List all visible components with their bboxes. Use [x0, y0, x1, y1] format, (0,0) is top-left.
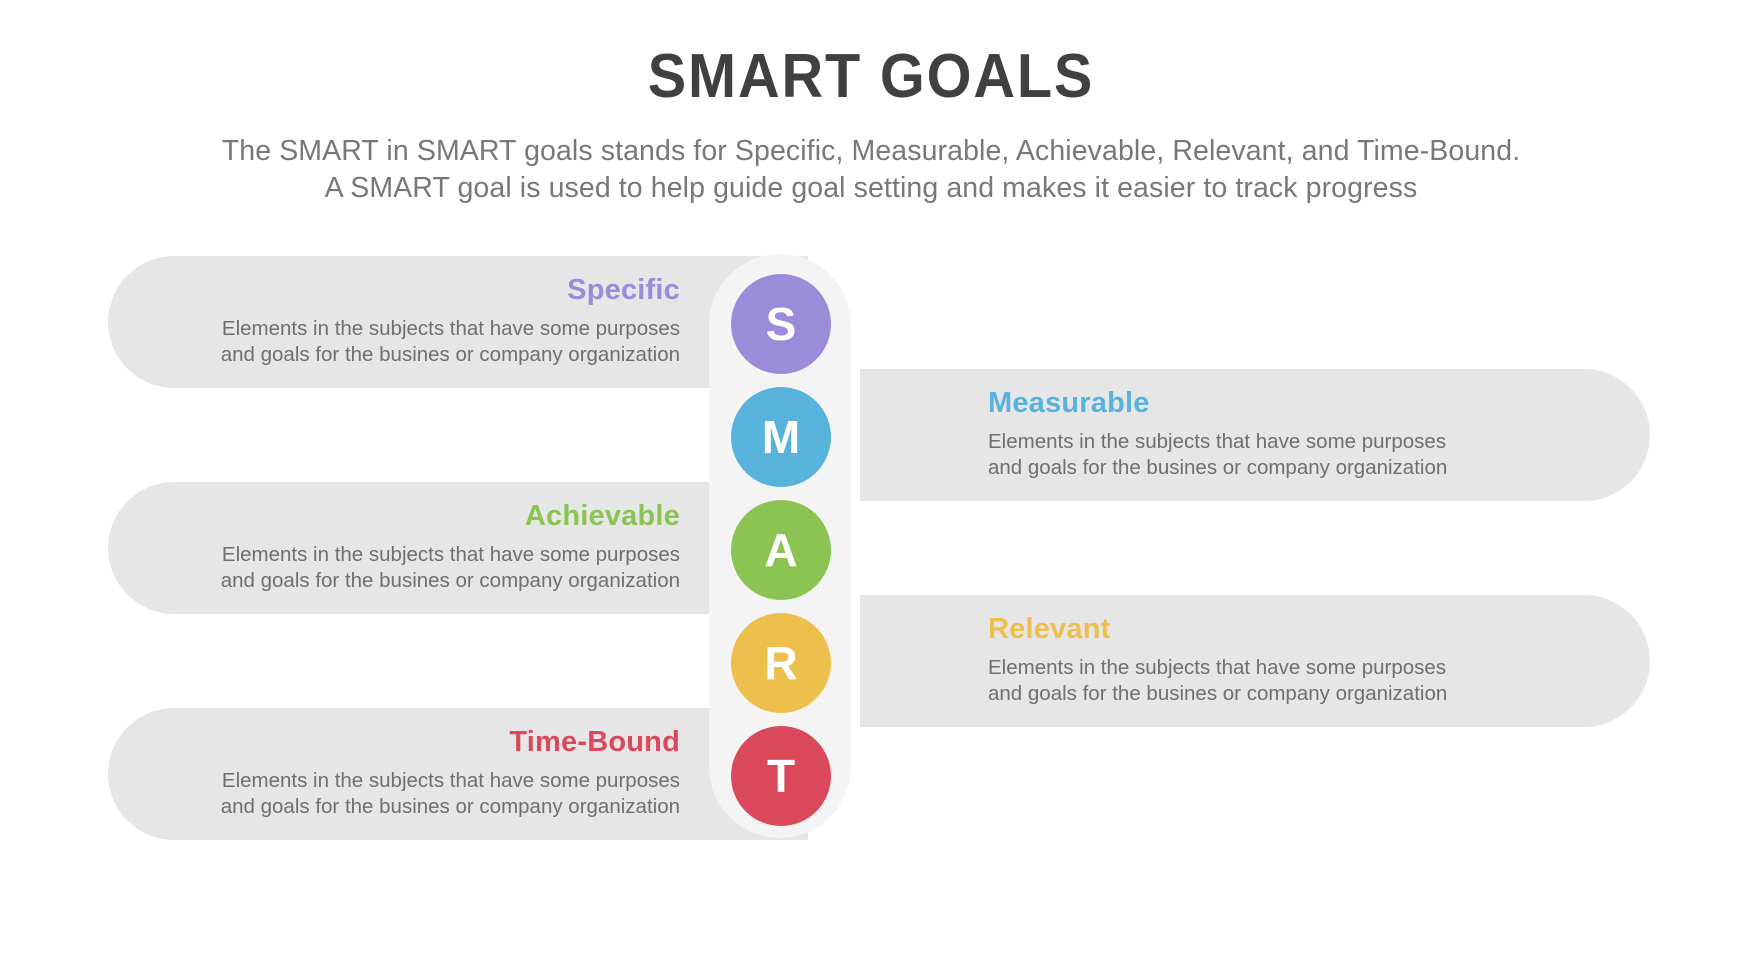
smart-bar-description-measurable: Elements in the subjects that have some … — [988, 429, 1590, 482]
smart-bar-relevant[interactable]: Relevant Elements in the subjects that h… — [860, 595, 1650, 727]
header: SMART GOALS The SMART in SMART goals sta… — [0, 44, 1742, 206]
page-title: SMART GOALS — [61, 44, 1681, 109]
smart-bar-measurable[interactable]: Measurable Elements in the subjects that… — [860, 369, 1650, 501]
subtitle-line-2: A SMART goal is used to help guide goal … — [91, 170, 1651, 206]
smart-bar-description-relevant: Elements in the subjects that have some … — [988, 655, 1590, 708]
letter-circle-s[interactable]: S — [731, 274, 831, 374]
smart-bar-title-achievable: Achievable — [168, 501, 680, 533]
smart-goals-infographic: SMART GOALS The SMART in SMART goals sta… — [0, 0, 1742, 980]
letter-circle-label-a: A — [764, 527, 797, 573]
letter-circle-label-s: S — [766, 301, 797, 347]
smart-bar-title-relevant: Relevant — [988, 614, 1590, 646]
smart-bar-achievable[interactable]: Achievable Elements in the subjects that… — [108, 482, 808, 614]
smart-bar-title-time-bound: Time-Bound — [168, 727, 680, 759]
letter-circle-m[interactable]: M — [731, 387, 831, 487]
letter-circle-label-t: T — [767, 753, 795, 799]
smart-bar-time-bound[interactable]: Time-Bound Elements in the subjects that… — [108, 708, 808, 840]
smart-diagram: Specific Elements in the subjects that h… — [0, 254, 1742, 854]
page-subtitle: The SMART in SMART goals stands for Spec… — [91, 133, 1651, 206]
smart-bar-description-specific: Elements in the subjects that have some … — [168, 316, 680, 369]
smart-bar-title-specific: Specific — [168, 275, 680, 307]
letter-circle-t[interactable]: T — [731, 726, 831, 826]
smart-bar-description-time-bound: Elements in the subjects that have some … — [168, 768, 680, 821]
letter-circle-label-m: M — [762, 414, 800, 460]
smart-bar-specific[interactable]: Specific Elements in the subjects that h… — [108, 256, 808, 388]
letter-circle-a[interactable]: A — [731, 500, 831, 600]
subtitle-line-1: The SMART in SMART goals stands for Spec… — [91, 133, 1651, 169]
letter-circle-r[interactable]: R — [731, 613, 831, 713]
smart-bar-description-achievable: Elements in the subjects that have some … — [168, 542, 680, 595]
smart-bar-title-measurable: Measurable — [988, 388, 1590, 420]
letter-circle-label-r: R — [764, 640, 797, 686]
